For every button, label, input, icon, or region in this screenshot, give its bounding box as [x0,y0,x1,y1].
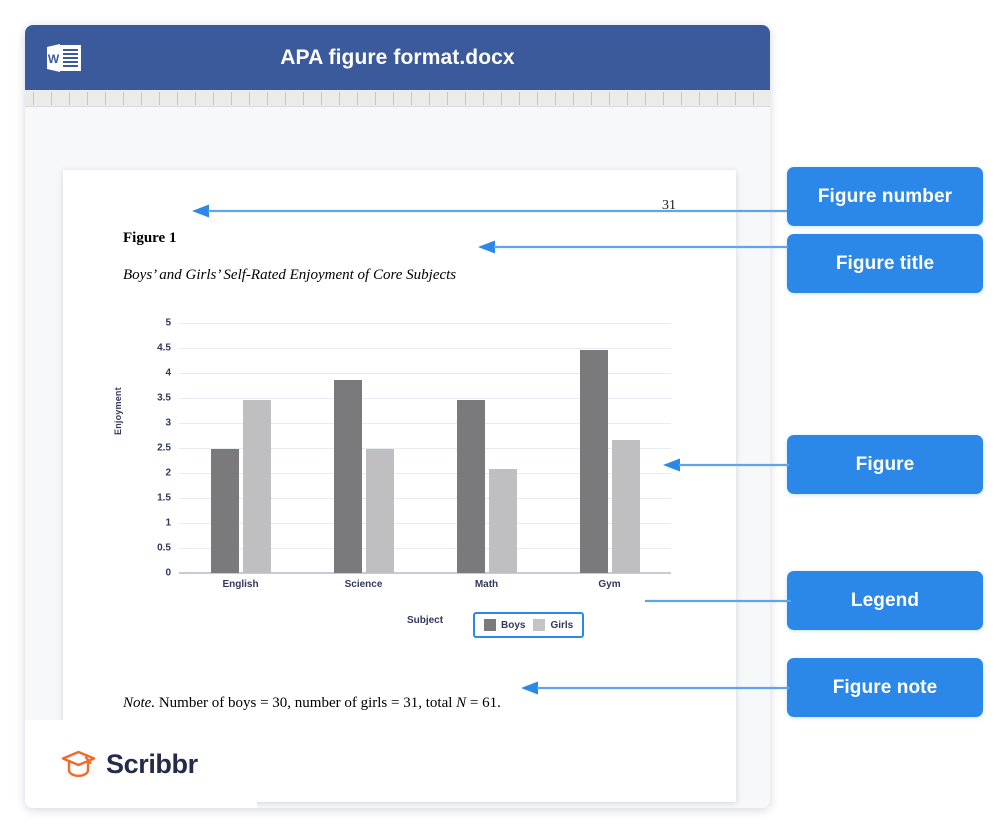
legend-label-boys: Boys [501,620,525,631]
ruler-tick [519,92,520,105]
callout-legend-label: Legend [851,590,919,612]
ruler-tick [501,92,502,105]
callout-figure-number-label: Figure number [818,186,952,208]
ruler-tick [663,92,664,105]
ruler-tick [411,92,412,105]
ruler-tick [303,92,304,105]
window-titlebar: W APA figure format.docx [25,25,770,90]
ruler-tick [393,92,394,105]
chart-plot-area: 00.511.522.533.544.55 [179,323,671,573]
ruler-tick [429,92,430,105]
legend-swatch-girls [533,619,545,631]
chart-x-tick: Math [475,579,498,590]
callout-figure-note-label: Figure note [833,677,938,699]
ruler-tick [537,92,538,105]
chart-x-axis-label: Subject [179,615,671,626]
word-icon: W [45,41,83,75]
callout-legend[interactable]: Legend [787,571,983,630]
ruler-tick [591,92,592,105]
ruler-tick [645,92,646,105]
note-prefix: Note. [123,695,155,711]
chart-y-tick: 0 [165,568,171,579]
document-title: APA figure format.docx [280,46,514,70]
chart-bar [489,469,517,573]
ruler-tick [681,92,682,105]
callout-figure-number[interactable]: Figure number [787,167,983,226]
ruler-tick [465,92,466,105]
ruler-tick [213,92,214,105]
ruler-tick [447,92,448,105]
legend-label-girls: Girls [550,620,573,631]
ruler-tick [285,92,286,105]
chart-bar [580,350,608,574]
ruler-tick [321,92,322,105]
callout-figure-title-label: Figure title [836,253,934,275]
ruler-tick [177,92,178,105]
ruler-tick [33,92,34,105]
chart-bar [334,380,362,574]
ruler-tick [69,92,70,105]
figure-title-text: Boys’ and Girls’ Self-Rated Enjoyment of… [123,267,456,284]
ruler-tick [753,92,754,105]
callout-figure-title[interactable]: Figure title [787,234,983,293]
chart-bar [243,400,271,574]
chart-bar [366,449,394,574]
figure-note-text: Note. Number of boys = 30, number of gir… [123,695,501,712]
callout-figure[interactable]: Figure [787,435,983,494]
ruler-tick [573,92,574,105]
figure-chart: Enjoyment 00.511.522.533.544.55 Subject … [111,315,691,665]
ruler-tick [555,92,556,105]
note-body-2: = 61. [466,695,501,711]
ruler-tick [375,92,376,105]
legend-swatch-boys [484,619,496,631]
chart-bar [211,449,239,573]
chart-gridline [179,323,671,324]
ruler-tick [141,92,142,105]
chart-x-tick: English [222,579,258,590]
chart-y-tick: 3 [165,418,171,429]
ruler-tick [627,92,628,105]
chart-y-tick: 5 [165,318,171,329]
note-italic-n: N [456,695,466,711]
legend-item-girls: Girls [533,619,573,631]
ruler-tick [339,92,340,105]
chart-y-tick: 1.5 [157,493,171,504]
ruler-tick [735,92,736,105]
graduation-cap-icon [60,749,97,779]
ruler-tick [267,92,268,105]
ruler-tick [87,92,88,105]
chart-bar [457,400,485,573]
arrow-figure-number [192,204,792,218]
chart-bar [612,440,640,574]
arrow-figure-title [478,240,793,254]
chart-y-tick: 4 [165,368,171,379]
ruler-tick [105,92,106,105]
ruler-tick [195,92,196,105]
chart-y-tick: 3.5 [157,393,171,404]
ruler-tick [699,92,700,105]
svg-text:W: W [48,52,60,66]
arrow-legend [645,594,793,608]
screenshot-root: W APA figure format.docx 31 Figure 1 Boy… [0,0,1002,836]
chart-legend[interactable]: Boys Girls [473,612,584,638]
callout-figure-label: Figure [856,454,915,476]
chart-y-tick: 2 [165,468,171,479]
ruler-tick [159,92,160,105]
ruler-tick [609,92,610,105]
scribbr-wordmark: Scribbr [106,749,198,780]
chart-y-tick: 1 [165,518,171,529]
ruler-tick [357,92,358,105]
ruler-tick [483,92,484,105]
callout-figure-note[interactable]: Figure note [787,658,983,717]
ruler-tick [231,92,232,105]
chart-x-tick: Science [345,579,383,590]
chart-y-tick: 0.5 [157,543,171,554]
scribbr-logo: Scribbr [25,720,257,808]
note-body-1: Number of boys = 30, number of girls = 3… [155,695,456,711]
document-page: 31 Figure 1 Boys’ and Girls’ Self-Rated … [63,170,736,802]
chart-x-tick: Gym [598,579,620,590]
chart-y-axis-label: Enjoyment [113,421,123,435]
chart-y-tick: 4.5 [157,343,171,354]
ruler-tick [123,92,124,105]
ruler-bar[interactable] [25,90,770,107]
arrow-figure-note [521,681,793,695]
legend-item-boys: Boys [484,619,525,631]
ruler-tick [51,92,52,105]
figure-number-label: Figure 1 [123,230,176,247]
ruler-tick [249,92,250,105]
chart-y-tick: 2.5 [157,443,171,454]
arrow-figure [663,458,793,472]
ruler-tick [717,92,718,105]
